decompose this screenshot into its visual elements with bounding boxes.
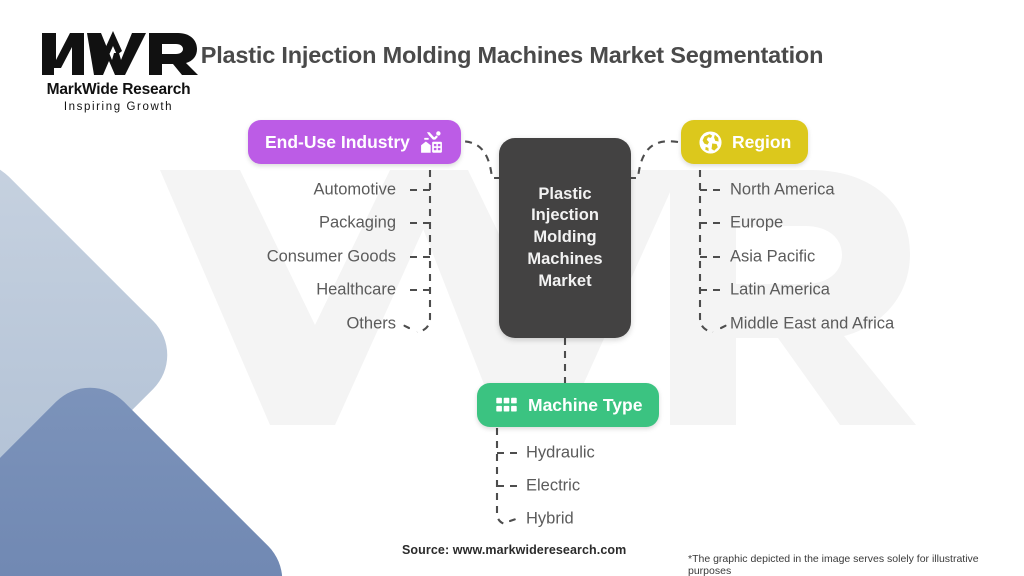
source-credit: Source: www.markwideresearch.com bbox=[402, 543, 626, 557]
disclaimer-note: *The graphic depicted in the image serve… bbox=[688, 553, 1024, 576]
infographic-canvas: MarkWide Research Inspiring Growth Plast… bbox=[0, 0, 1024, 576]
globe-icon bbox=[698, 130, 723, 155]
center-node: Plastic Injection Molding Machines Marke… bbox=[499, 138, 631, 338]
branch-pill-region[interactable]: Region bbox=[681, 120, 808, 164]
factory-robot-icon bbox=[419, 130, 444, 155]
leaf-item: Europe bbox=[730, 214, 783, 233]
leaf-item: Electric bbox=[526, 477, 580, 496]
leaf-item: Healthcare bbox=[316, 281, 396, 300]
branch-pill-machine-type[interactable]: Machine Type bbox=[477, 383, 659, 427]
branch-label-end-use-industry: End-Use Industry bbox=[265, 132, 410, 153]
leaf-item: Packaging bbox=[319, 214, 396, 233]
grid-squares-icon bbox=[494, 393, 519, 418]
leaf-item: Others bbox=[346, 315, 396, 334]
leaf-item: North America bbox=[730, 181, 835, 200]
leaf-item: Hydraulic bbox=[526, 444, 595, 463]
leaf-item: Asia Pacific bbox=[730, 248, 815, 267]
leaf-item: Consumer Goods bbox=[267, 248, 396, 267]
center-node-label: Plastic Injection Molding Machines Marke… bbox=[499, 184, 631, 293]
branch-pill-end-use-industry[interactable]: End-Use Industry bbox=[248, 120, 461, 164]
leaf-item: Middle East and Africa bbox=[730, 315, 894, 334]
leaf-item: Latin America bbox=[730, 281, 830, 300]
branch-label-machine-type: Machine Type bbox=[528, 395, 642, 416]
branch-label-region: Region bbox=[732, 132, 791, 153]
leaf-item: Hybrid bbox=[526, 510, 574, 529]
leaf-item: Automotive bbox=[313, 181, 396, 200]
